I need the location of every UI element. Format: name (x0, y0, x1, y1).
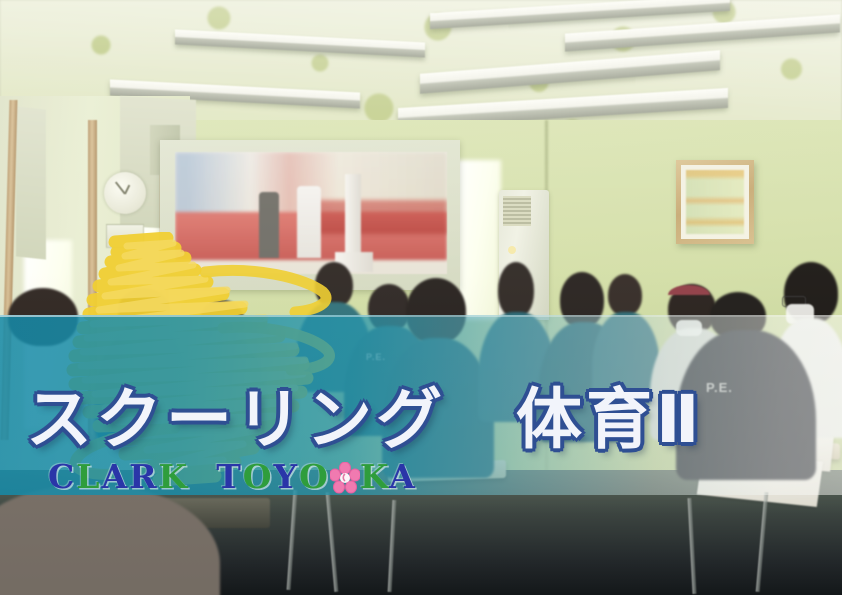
framed-picture (676, 160, 754, 244)
projected-video-image (175, 152, 447, 274)
student-head (608, 274, 642, 316)
teal-gradient-band (0, 315, 842, 495)
band-top-highlight (0, 315, 842, 317)
projected-seating (317, 200, 447, 234)
student-head (498, 262, 534, 318)
wall-plaque (106, 224, 144, 248)
clock-minute-hand (115, 182, 125, 195)
projected-presenter-dark (259, 192, 279, 258)
picture-artwork (686, 170, 744, 234)
picture-mat (681, 165, 749, 239)
wall-clock (104, 172, 146, 214)
window-blind (16, 106, 46, 259)
classroom-photo: P.E. (0, 0, 842, 595)
air-conditioner-indicator (508, 246, 516, 254)
projected-presenter-light (297, 186, 321, 258)
air-conditioner-vent (503, 196, 531, 226)
screenshot-canvas: P.E. (0, 0, 842, 595)
